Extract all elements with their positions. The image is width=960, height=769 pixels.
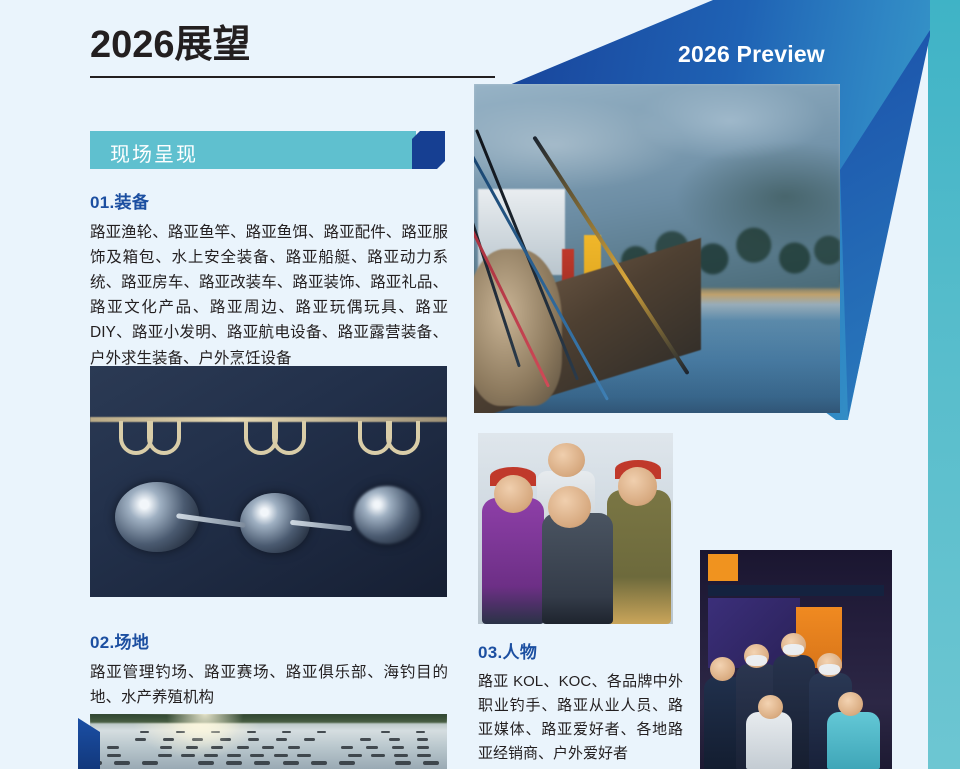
item-body-02: 路亚管理钓场、路亚赛场、路亚俱乐部、海钓目的地、水产养殖机构 <box>90 660 448 710</box>
item-block-people: 03.人物 路亚 KOL、KOC、各品牌中外职业钓手、路亚从业人员、路亚媒体、路… <box>478 638 683 766</box>
section-banner: 现场呈现 <box>90 131 445 169</box>
fishing-reel <box>354 486 420 544</box>
item-body-03: 路亚 KOL、KOC、各品牌中外职业钓手、路亚从业人员、路亚媒体、路亚爱好者、各… <box>478 670 683 766</box>
boat <box>226 761 242 765</box>
boat <box>360 738 371 740</box>
boat <box>371 754 385 757</box>
boat <box>339 761 355 765</box>
boat <box>211 731 220 733</box>
boat <box>211 746 223 749</box>
person-head <box>618 467 657 505</box>
boat <box>381 731 390 733</box>
booth-visitor <box>827 712 881 769</box>
person-head <box>548 443 585 477</box>
boat <box>297 754 311 757</box>
boat <box>204 754 218 757</box>
boat <box>247 731 256 733</box>
boat <box>304 738 315 740</box>
item-heading-01: 01.装备 <box>90 188 448 213</box>
boat <box>181 754 195 757</box>
face-mask <box>746 655 767 666</box>
boat <box>192 738 203 740</box>
person-head <box>494 475 533 513</box>
booth-visitor <box>746 712 792 769</box>
boat <box>140 731 149 733</box>
boat <box>366 746 378 749</box>
boat <box>416 731 425 733</box>
face-mask <box>783 644 804 655</box>
boat <box>311 761 327 765</box>
page-title-block: 2026展望 <box>90 26 500 78</box>
boat <box>389 738 400 740</box>
boat <box>158 754 172 757</box>
boat <box>176 731 185 733</box>
boat <box>288 746 300 749</box>
booth-dark-header-bar <box>708 585 885 596</box>
face-mask <box>819 664 840 675</box>
photo-anglers-group <box>478 433 673 624</box>
boat <box>220 738 231 740</box>
person-head <box>758 695 783 719</box>
person-purple-jacket <box>482 498 544 624</box>
preview-label: 2026 Preview <box>678 41 825 68</box>
boat <box>262 746 274 749</box>
reel-hanger-hook <box>386 421 420 455</box>
boat <box>107 754 121 757</box>
boat <box>248 738 259 740</box>
person-head <box>710 657 735 681</box>
boat <box>282 731 291 733</box>
boat <box>274 754 288 757</box>
boat <box>163 738 174 740</box>
boat <box>283 761 299 765</box>
boat <box>417 746 429 749</box>
boat <box>276 738 287 740</box>
section-banner-label: 现场呈现 <box>110 138 198 167</box>
boat <box>135 738 146 740</box>
boat <box>142 761 158 765</box>
boat <box>392 746 404 749</box>
item-body-01: 路亚渔轮、路亚鱼竿、路亚鱼饵、路亚配件、路亚服饰及箱包、水上安全装备、路亚船艇、… <box>90 220 448 371</box>
boat <box>417 738 428 740</box>
booth-orange-logo-block <box>708 554 739 580</box>
boat <box>186 746 198 749</box>
photo-boats-on-lake <box>90 714 447 769</box>
boat <box>394 754 408 757</box>
boat <box>341 746 353 749</box>
boat <box>317 731 326 733</box>
boat <box>250 754 264 757</box>
page-root: 2026展望 2026 Preview 现场呈现 01.装备 路亚渔轮、路亚鱼竿… <box>0 0 960 769</box>
photo-fishing-rods-on-pier <box>474 84 840 413</box>
page-title: 2026展望 <box>90 26 500 66</box>
title-divider <box>90 76 495 78</box>
lake-treeline <box>90 714 447 723</box>
item-heading-03: 03.人物 <box>478 638 683 663</box>
reel-hanger-hook <box>147 421 181 455</box>
boat <box>254 761 270 765</box>
boat <box>423 761 439 765</box>
item-block-equipment: 01.装备 路亚渔轮、路亚鱼竿、路亚鱼饵、路亚配件、路亚服饰及箱包、水上安全装备… <box>90 188 448 371</box>
boat <box>227 754 241 757</box>
person-grey-jacket <box>542 513 612 624</box>
boat <box>237 746 249 749</box>
section-banner-accent-shape <box>412 131 445 169</box>
boat <box>114 761 130 765</box>
boat <box>417 754 431 757</box>
boat <box>160 746 172 749</box>
photo-tradeshow-booth <box>700 550 892 769</box>
boat <box>198 761 214 765</box>
boat <box>107 746 119 749</box>
person-olive-jacket <box>607 490 671 624</box>
reel-hanger-hook <box>272 421 306 455</box>
photo-fishing-reels-display <box>90 366 447 597</box>
boat <box>395 761 411 765</box>
item-block-venues: 02.场地 路亚管理钓场、路亚赛场、路亚俱乐部、海钓目的地、水产养殖机构 <box>90 628 448 710</box>
boat <box>348 754 362 757</box>
right-teal-strip <box>928 0 960 769</box>
item-heading-02: 02.场地 <box>90 628 448 653</box>
